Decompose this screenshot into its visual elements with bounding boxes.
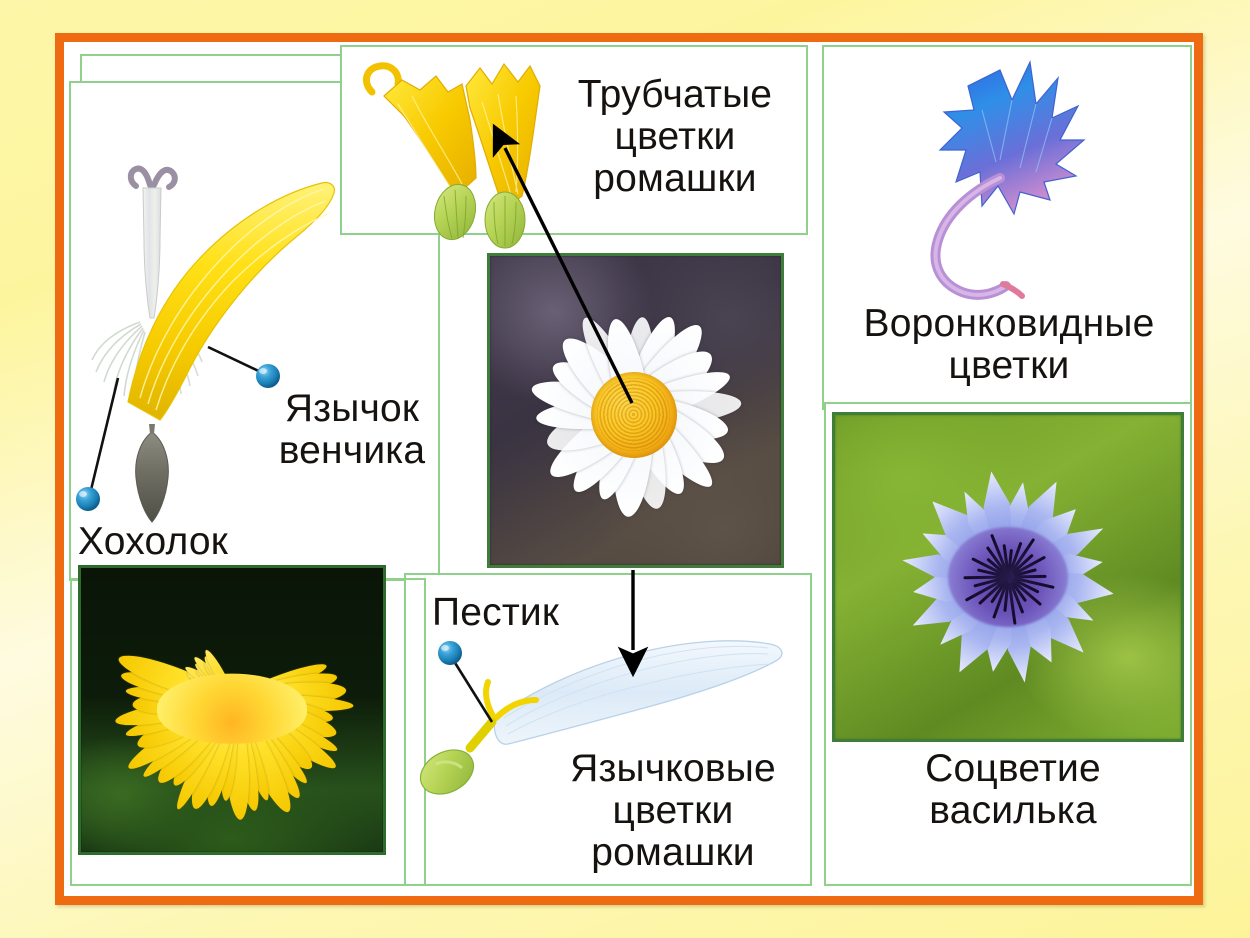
chamomile-disc (591, 372, 677, 458)
label-funnel-flowers: Воронковидные цветки (830, 303, 1188, 387)
dandelion-photo-canvas (81, 568, 383, 852)
cornflower-photo-canvas (835, 415, 1181, 739)
label-tubular-flowers: Трубчатые цветки ромашки (552, 74, 798, 200)
poster-canvas: Трубчатые цветки ромашки Воронковидные ц… (0, 0, 1250, 938)
chamomile-flower-photo (487, 253, 784, 568)
chamomile-photo-canvas (490, 256, 781, 565)
label-ligulate-flowers: Язычковые цветки ромашки (548, 748, 798, 874)
label-ligule-corolla: Язычок венчика (256, 388, 448, 472)
cornflower-head-photo (832, 412, 1184, 742)
label-pappus: Хохолок (78, 521, 318, 563)
label-cornflower-head: Соцветие василька (848, 748, 1178, 832)
label-pistil: Пестик (432, 592, 632, 634)
dandelion-flower-photo (78, 565, 386, 855)
dandelion-core (157, 674, 307, 744)
